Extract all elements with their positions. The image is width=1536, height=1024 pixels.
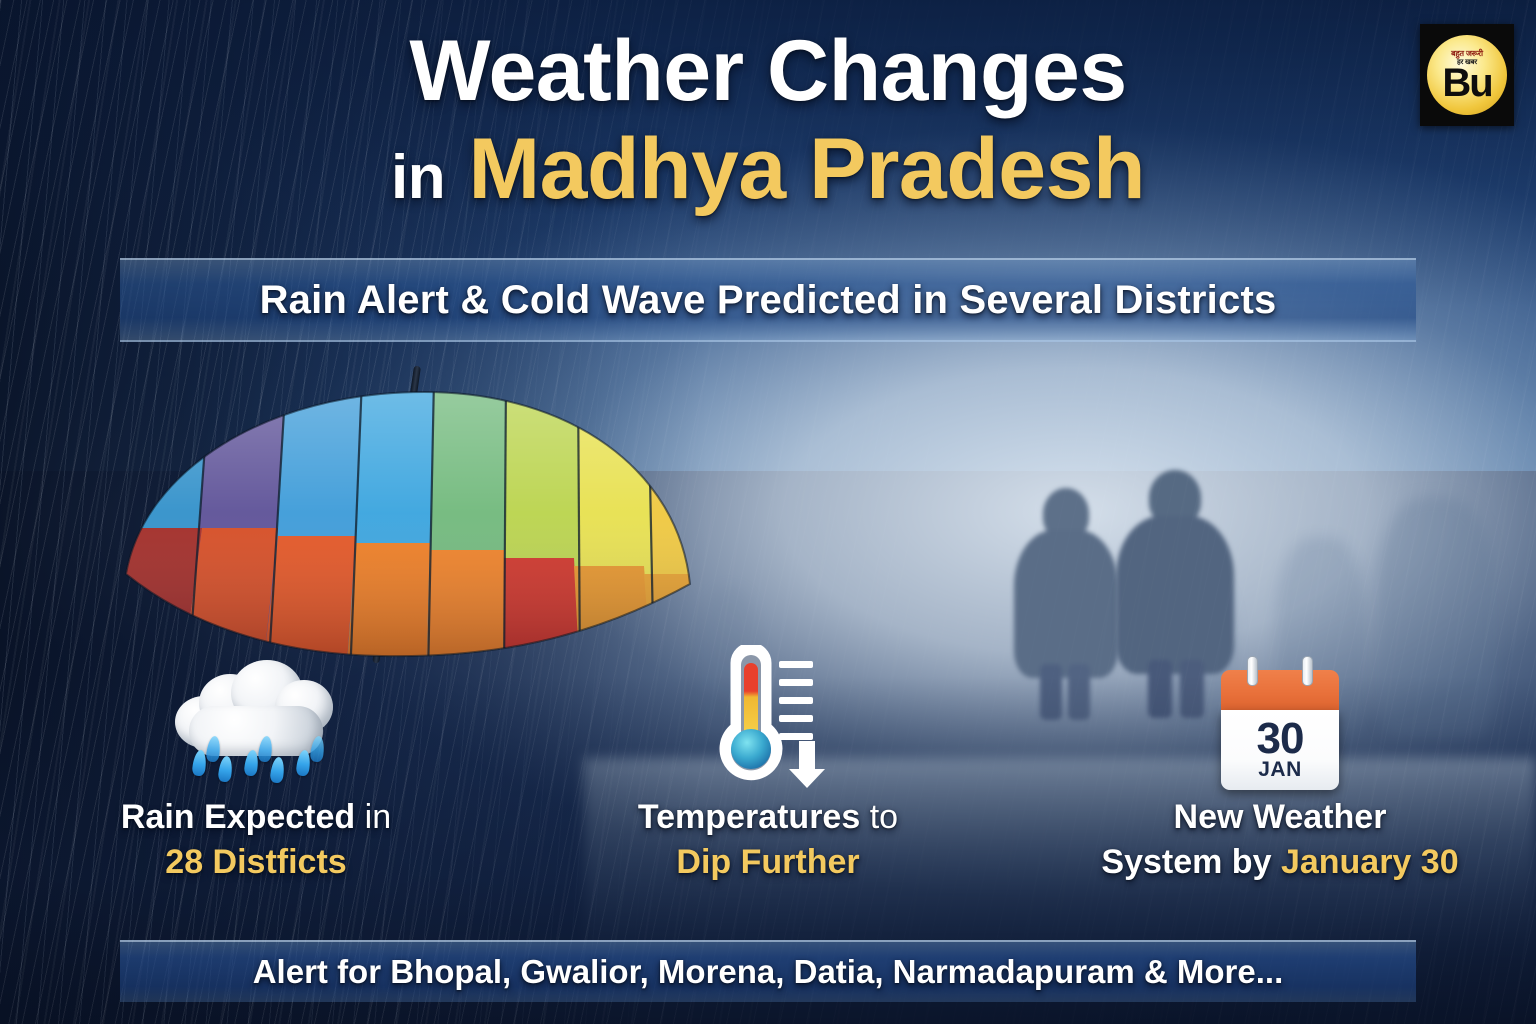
feature-row: Rain Expected in 28 Distficts xyxy=(0,640,1536,910)
calendar-header xyxy=(1221,670,1339,710)
calendar-ring-left xyxy=(1247,656,1258,686)
feature-new-system-line2-highlight: January 30 xyxy=(1281,843,1459,881)
thermometer-down-icon xyxy=(703,645,833,790)
feature-temperature-line1-bold: Temperatures xyxy=(638,798,860,836)
calendar-month: JAN xyxy=(1258,759,1302,780)
title-line-2-prefix: in xyxy=(391,143,445,212)
rain-cloud-icon xyxy=(171,650,341,790)
weather-infographic-poster: बहुत जरूरी हर खबर Bu Weather Changes in … xyxy=(0,0,1536,1024)
feature-temperature-icon-slot xyxy=(703,640,833,790)
title-line-2-highlight: Madhya Pradesh xyxy=(469,121,1145,217)
feature-new-system-icon-slot: 30 JAN xyxy=(1221,640,1339,790)
feature-rain: Rain Expected in 28 Distficts xyxy=(0,640,512,910)
feature-rain-line1-bold: Rain Expected xyxy=(121,798,355,836)
feature-new-system-line2-white: System by xyxy=(1101,843,1271,881)
feature-temperature-line1-light: to xyxy=(870,798,898,836)
feature-temperature: Temperatures to Dip Further xyxy=(512,640,1024,910)
umbrella-canopy xyxy=(118,378,698,678)
feature-temperature-line2: Dip Further xyxy=(676,843,859,882)
calendar-day: 30 xyxy=(1257,720,1304,759)
feature-rain-line1: Rain Expected in xyxy=(121,798,391,837)
poster-title: Weather Changes in Madhya Pradesh xyxy=(0,28,1536,212)
feature-rain-line1-light: in xyxy=(365,798,391,836)
bottom-alert-text: Alert for Bhopal, Gwalior, Morena, Datia… xyxy=(253,953,1284,991)
calendar-icon: 30 JAN xyxy=(1221,666,1339,790)
title-line-1: Weather Changes xyxy=(0,28,1536,114)
subtitle-band: Rain Alert & Cold Wave Predicted in Seve… xyxy=(120,258,1416,342)
calendar-body: 30 JAN xyxy=(1221,710,1339,790)
subtitle-text: Rain Alert & Cold Wave Predicted in Seve… xyxy=(260,278,1277,323)
feature-new-system-line2: System by January 30 xyxy=(1101,843,1458,882)
title-line-2: in Madhya Pradesh xyxy=(0,126,1536,212)
feature-rain-icon-slot xyxy=(171,640,341,790)
rainbow-umbrella xyxy=(118,378,698,678)
feature-new-system-line1: New Weather xyxy=(1174,798,1387,837)
bottom-alert-banner: Alert for Bhopal, Gwalior, Morena, Datia… xyxy=(120,940,1416,1002)
calendar-ring-right xyxy=(1302,656,1313,686)
feature-rain-line2: 28 Distficts xyxy=(165,843,346,882)
feature-new-system: 30 JAN New Weather System by January 30 xyxy=(1024,640,1536,910)
feature-temperature-line1: Temperatures to xyxy=(638,798,898,837)
